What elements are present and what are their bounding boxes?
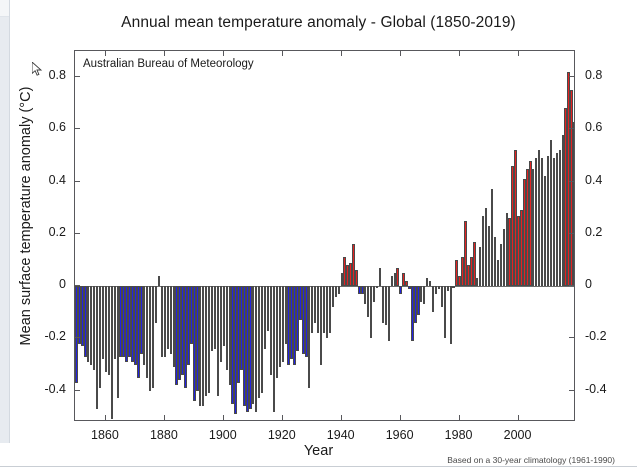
x-axis-tick-label: 1980	[436, 428, 482, 442]
y-axis-tick	[75, 128, 80, 129]
bar	[396, 268, 398, 286]
x-axis-tick	[518, 415, 519, 420]
x-axis-tick	[400, 51, 401, 56]
y-axis-tick	[75, 285, 80, 286]
y-axis-tick	[75, 76, 80, 77]
plot-area: Australian Bureau of Meteorology	[74, 50, 575, 421]
page-bottom-divider	[0, 466, 637, 467]
y-axis-tick	[569, 390, 574, 391]
x-axis-tick-label: 1920	[259, 428, 305, 442]
x-axis-tick-label: 1940	[318, 428, 364, 442]
y-axis-tick	[569, 128, 574, 129]
y-axis-tick-label: -0.4	[18, 382, 66, 396]
y-axis-tick-label: 0.8	[585, 68, 602, 82]
x-axis-tick	[459, 51, 460, 56]
bar	[388, 286, 390, 341]
bar	[423, 286, 425, 304]
x-axis-tick	[459, 415, 460, 420]
y-axis-tick-label: 0	[585, 277, 592, 291]
y-axis-tick-label: -0.2	[585, 329, 607, 343]
bar	[399, 286, 401, 294]
x-axis-tick-label: 1860	[82, 428, 128, 442]
x-axis-tick-label: 1900	[200, 428, 246, 442]
bar	[155, 286, 157, 323]
x-axis-tick	[341, 51, 342, 56]
bar-series	[75, 51, 574, 420]
x-axis-tick-label: 2000	[495, 428, 541, 442]
x-axis-tick	[400, 415, 401, 420]
mouse-pointer-icon	[32, 62, 44, 78]
bar	[444, 286, 446, 338]
y-axis-tick	[569, 181, 574, 182]
y-axis-tick	[75, 181, 80, 182]
x-axis-tick	[223, 51, 224, 56]
bar	[450, 286, 452, 343]
x-axis-tick	[282, 415, 283, 420]
x-axis-tick	[518, 51, 519, 56]
x-axis-tick	[341, 415, 342, 420]
climatology-footnote: Based on a 30-year climatology (1961-199…	[447, 455, 615, 465]
bar	[373, 286, 375, 302]
bar	[158, 276, 160, 286]
y-axis-tick	[75, 233, 80, 234]
x-axis-tick	[164, 51, 165, 56]
y-axis-tick-label: -0.4	[585, 382, 607, 396]
y-axis-title: Mean surface temperature anomaly (°C)	[18, 56, 34, 376]
screenshot-page: Annual mean temperature anomaly - Global…	[0, 0, 637, 475]
chart-title: Annual mean temperature anomaly - Global…	[0, 14, 637, 32]
bar	[338, 286, 340, 294]
y-axis-tick	[569, 76, 574, 77]
y-axis-tick	[569, 233, 574, 234]
bar	[573, 122, 575, 287]
x-axis-tick	[164, 415, 165, 420]
x-axis-tick	[105, 415, 106, 420]
bar	[452, 286, 454, 288]
x-axis-tick-label: 1960	[377, 428, 423, 442]
x-axis-tick-label: 1880	[141, 428, 187, 442]
y-axis-tick-label: 0.6	[585, 120, 602, 134]
y-axis-tick-label: 0.2	[585, 225, 602, 239]
bar	[376, 286, 378, 288]
y-axis-tick	[75, 337, 80, 338]
y-axis-tick	[569, 285, 574, 286]
y-axis-tick-label: 0.4	[585, 173, 602, 187]
x-axis-tick	[282, 51, 283, 56]
x-axis-tick	[223, 415, 224, 420]
y-axis-tick	[75, 390, 80, 391]
bar	[379, 268, 381, 286]
x-axis-tick	[105, 51, 106, 56]
bar	[355, 270, 357, 286]
browser-chrome-strip	[0, 0, 10, 443]
y-axis-tick	[569, 337, 574, 338]
